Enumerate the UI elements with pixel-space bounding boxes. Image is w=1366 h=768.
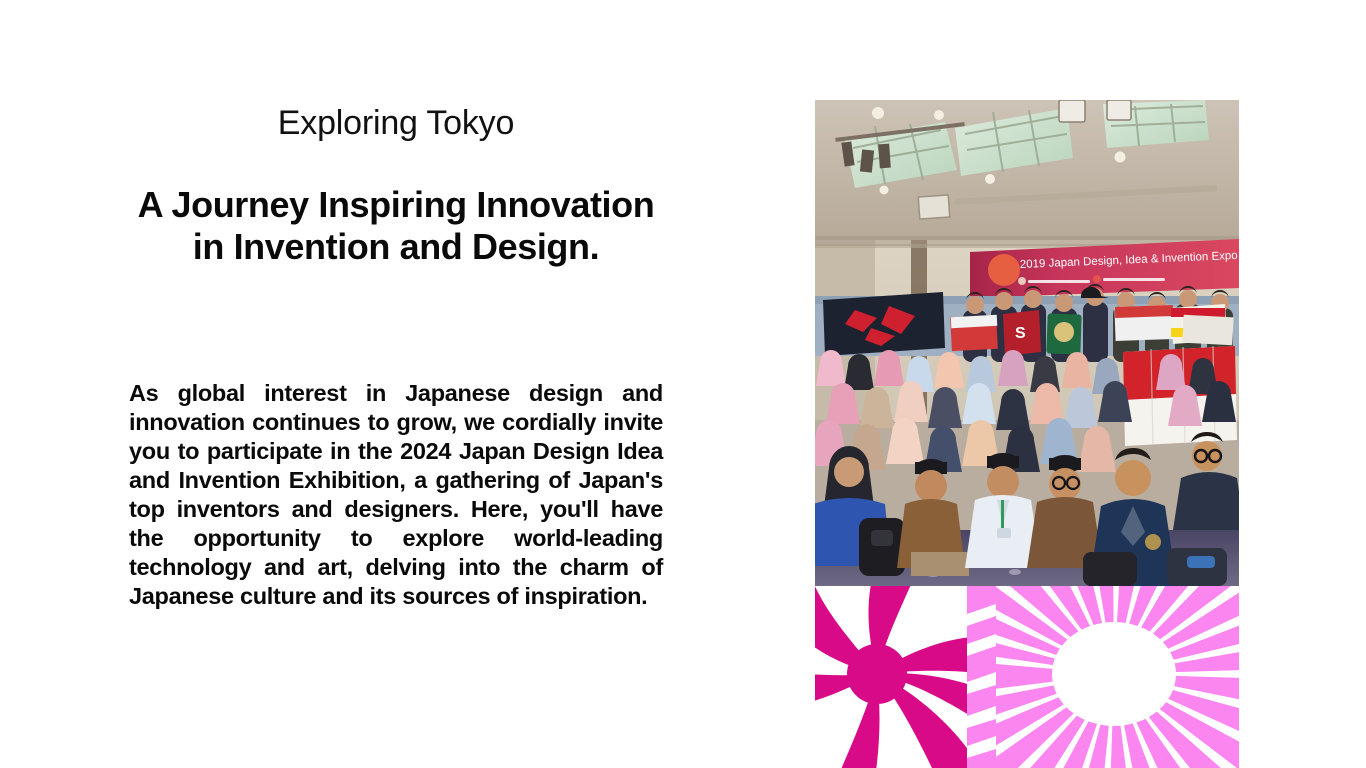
sunburst-rays-icon [996, 586, 1239, 768]
svg-text:S: S [1015, 325, 1026, 342]
decorative-graphics-strip [815, 586, 1239, 768]
pink-sunburst-graphic [996, 586, 1239, 768]
page-title-line-1: A Journey Inspiring Innovation [129, 184, 663, 226]
photo-render: 2019 Japan Design, Idea & Invention Expo [815, 100, 1239, 586]
eyebrow-title: Exploring Tokyo [129, 101, 663, 145]
page-title: A Journey Inspiring Innovation in Invent… [129, 184, 663, 268]
body-paragraph: As global interest in Japanese design an… [129, 379, 663, 611]
event-group-photo: 2019 Japan Design, Idea & Invention Expo [815, 100, 1239, 586]
text-column: Exploring Tokyo A Journey Inspiring Inno… [129, 0, 663, 768]
magenta-petal-graphic [815, 586, 996, 768]
page-title-line-2: in Invention and Design. [129, 226, 663, 268]
media-column: 2019 Japan Design, Idea & Invention Expo [815, 100, 1239, 768]
petal-burst-icon [815, 586, 996, 768]
